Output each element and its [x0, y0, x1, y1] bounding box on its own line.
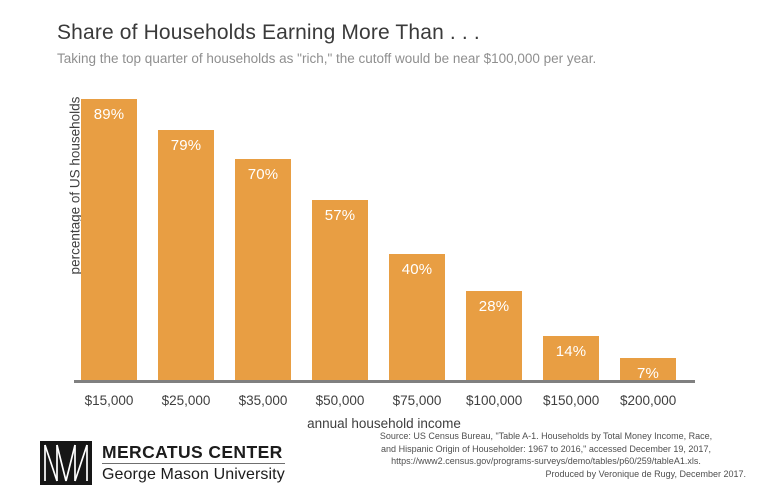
- x-axis-tick-label: $25,000: [158, 393, 214, 408]
- x-axis-tick-label: $75,000: [389, 393, 445, 408]
- bar[interactable]: 70%: [235, 159, 291, 380]
- source-line-2: and Hispanic Origin of Householder: 1967…: [340, 443, 752, 456]
- x-axis-tick-label: $200,000: [620, 393, 676, 408]
- mercatus-wordmark: MERCATUS CENTER George Mason University: [102, 442, 285, 485]
- logo-org-name: MERCATUS CENTER: [102, 442, 285, 462]
- bar-series: 89%79%70%57%40%28%14%7%: [81, 86, 688, 380]
- page-title: Share of Households Earning More Than . …: [57, 20, 757, 46]
- bar-value-label: 14%: [543, 343, 599, 360]
- bar-group: 79%: [158, 86, 214, 380]
- bar[interactable]: 28%: [466, 291, 522, 380]
- x-axis-tick-label: $35,000: [235, 393, 291, 408]
- source-line-1: Source: US Census Bureau, "Table A-1. Ho…: [340, 430, 752, 443]
- bar[interactable]: 40%: [389, 254, 445, 380]
- bar-value-label: 79%: [158, 137, 214, 154]
- bar-group: 40%: [389, 86, 445, 380]
- bar[interactable]: 14%: [543, 336, 599, 380]
- mercatus-logo: MERCATUS CENTER George Mason University: [40, 441, 285, 485]
- bar-group: 28%: [466, 86, 522, 380]
- bar[interactable]: 79%: [158, 130, 214, 380]
- x-axis-tick-label: $150,000: [543, 393, 599, 408]
- mercatus-m-mark-icon: [40, 441, 92, 485]
- bar-value-label: 28%: [466, 298, 522, 315]
- bar-value-label: 40%: [389, 261, 445, 278]
- logo-divider: [102, 463, 285, 464]
- chart-plot-area: percentage of US households 89%79%70%57%…: [44, 86, 744, 386]
- chart-subtitle: Taking the top quarter of households as …: [57, 49, 757, 69]
- source-line-4: Produced by Veronique de Rugy, December …: [340, 468, 752, 481]
- x-axis-title: annual household income: [0, 416, 768, 431]
- x-axis-line: [74, 380, 695, 383]
- bar[interactable]: 57%: [312, 200, 368, 380]
- bar-value-label: 70%: [235, 166, 291, 183]
- source-citation: Source: US Census Bureau, "Table A-1. Ho…: [340, 430, 752, 480]
- x-axis-tick-label: $100,000: [466, 393, 522, 408]
- bar-group: 57%: [312, 86, 368, 380]
- bar[interactable]: 7%: [620, 358, 676, 380]
- x-axis-tick-labels: $15,000$25,000$35,000$50,000$75,000$100,…: [81, 393, 688, 413]
- bar-group: 7%: [620, 86, 676, 380]
- bar[interactable]: 89%: [81, 99, 137, 380]
- logo-university-name: George Mason University: [102, 465, 285, 485]
- bar-group: 70%: [235, 86, 291, 380]
- source-line-3: https://www2.census.gov/programs-surveys…: [340, 455, 752, 468]
- bar-value-label: 89%: [81, 106, 137, 123]
- bar-group: 89%: [81, 86, 137, 380]
- bar-group: 14%: [543, 86, 599, 380]
- x-axis-tick-label: $15,000: [81, 393, 137, 408]
- bar-value-label: 57%: [312, 207, 368, 224]
- x-axis-tick-label: $50,000: [312, 393, 368, 408]
- chart-header: Share of Households Earning More Than . …: [57, 20, 757, 69]
